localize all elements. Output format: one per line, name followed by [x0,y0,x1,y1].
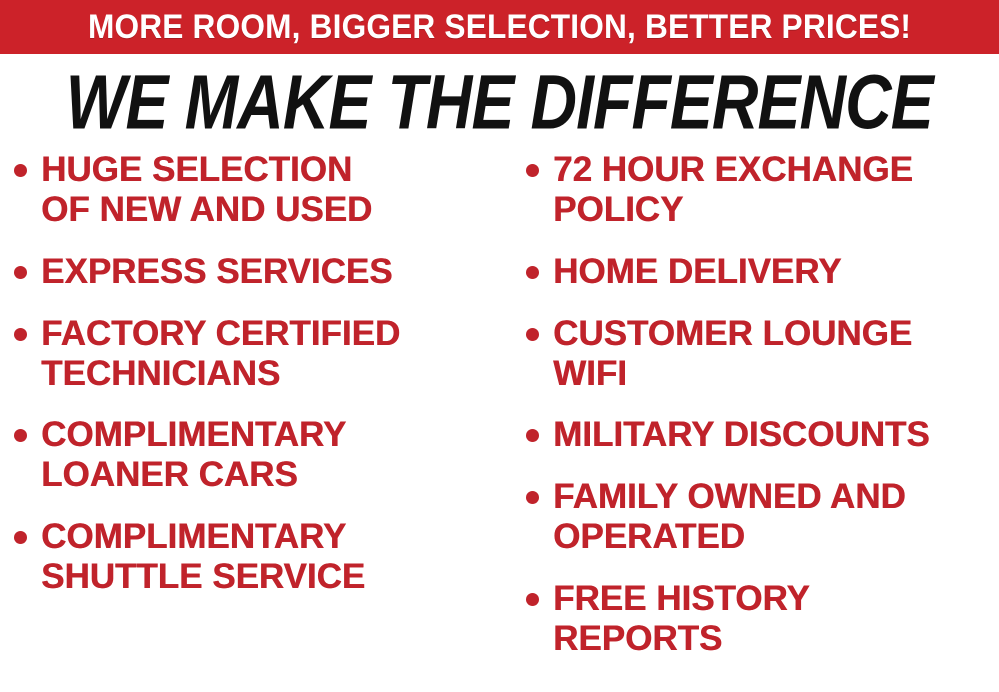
bullet-dot-icon [14,531,27,544]
list-item-label: 72 HOUR EXCHANGE POLICY [553,150,913,230]
bullet-dot-icon [526,429,539,442]
bullet-dot-icon [526,266,539,279]
list-item: FREE HISTORY REPORTS [526,579,999,659]
feature-column-left: HUGE SELECTION OF NEW AND USED EXPRESS S… [0,150,508,619]
list-item: CUSTOMER LOUNGE WIFI [526,314,999,394]
list-item-label: FAMILY OWNED AND OPERATED [553,477,906,557]
feature-column-right: 72 HOUR EXCHANGE POLICY HOME DELIVERY CU… [508,150,999,681]
bullet-dot-icon [14,429,27,442]
feature-columns: HUGE SELECTION OF NEW AND USED EXPRESS S… [0,150,999,692]
list-item: FAMILY OWNED AND OPERATED [526,477,999,557]
list-item: EXPRESS SERVICES [14,252,508,292]
list-item: 72 HOUR EXCHANGE POLICY [526,150,999,230]
page-title: WE MAKE THE DIFFERENCE [66,64,933,141]
bullet-dot-icon [14,164,27,177]
promo-banner: MORE ROOM, BIGGER SELECTION, BETTER PRIC… [0,0,999,54]
bullet-dot-icon [526,593,539,606]
list-item-label: CUSTOMER LOUNGE WIFI [553,314,912,394]
list-item: MILITARY DISCOUNTS [526,415,999,455]
promo-banner-text: MORE ROOM, BIGGER SELECTION, BETTER PRIC… [88,10,911,44]
bullet-dot-icon [14,266,27,279]
list-item-label: COMPLIMENTARY LOANER CARS [41,415,346,495]
list-item: COMPLIMENTARY LOANER CARS [14,415,508,495]
list-item: HUGE SELECTION OF NEW AND USED [14,150,508,230]
list-item-label: HOME DELIVERY [553,252,841,292]
bullet-dot-icon [526,328,539,341]
list-item-label: EXPRESS SERVICES [41,252,392,292]
list-item: HOME DELIVERY [526,252,999,292]
list-item-label: FACTORY CERTIFIED TECHNICIANS [41,314,400,394]
list-item: COMPLIMENTARY SHUTTLE SERVICE [14,517,508,597]
list-item-label: HUGE SELECTION OF NEW AND USED [41,150,372,230]
list-item: FACTORY CERTIFIED TECHNICIANS [14,314,508,394]
bullet-dot-icon [14,328,27,341]
list-item-label: MILITARY DISCOUNTS [553,415,930,455]
list-item-label: COMPLIMENTARY SHUTTLE SERVICE [41,517,365,597]
headline-container: WE MAKE THE DIFFERENCE [0,62,999,142]
bullet-dot-icon [526,164,539,177]
bullet-dot-icon [526,491,539,504]
list-item-label: FREE HISTORY REPORTS [553,579,810,659]
